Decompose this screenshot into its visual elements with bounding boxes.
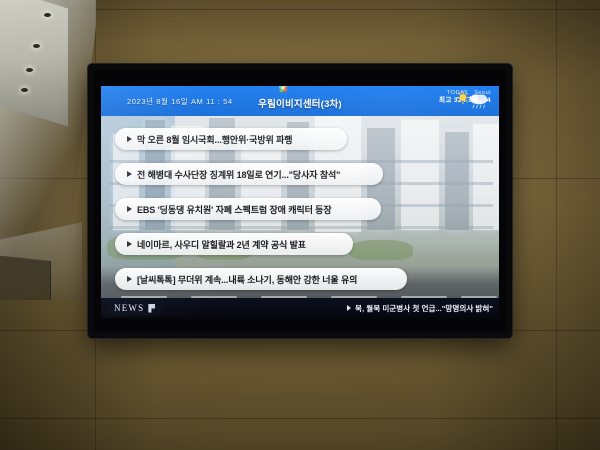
weather-icons-group [455, 91, 489, 111]
lobby-scene: 2023년 8월 16일 AM 11 : 54 우림이비지센터(3차) [0, 0, 600, 450]
screen-main-stage: 막 오른 8월 임시국회...행안위·국방위 파행 전 해병대 수사단장 징계위… [101, 116, 499, 318]
ceiling-downlight-icon [44, 13, 51, 17]
headline-text: 전 해병대 수사단장 징계위 18일로 연기..."당사자 참석" [137, 168, 340, 181]
play-triangle-icon [127, 241, 132, 247]
play-triangle-icon [127, 136, 132, 142]
news-badge: NEWS [107, 301, 162, 315]
news-badge-label: NEWS [114, 303, 144, 313]
list-item[interactable]: [날씨톡톡] 무더위 계속...내륙 소나기, 동해안 강한 너울 유의 [115, 268, 407, 290]
screen-header: 2023년 8월 16일 AM 11 : 54 우림이비지센터(3차) [101, 86, 499, 116]
play-triangle-icon [127, 276, 132, 282]
news-ticker[interactable]: NEWS 북, 월북 미군병사 첫 언급..."망명의사 밝혀" [101, 298, 499, 318]
background-corridor [0, 0, 96, 300]
list-item[interactable]: 네이마르, 사우디 알힐랄과 2년 계약 공식 발표 [115, 233, 353, 255]
ceiling-downlight-icon [21, 88, 28, 92]
sun-icon [457, 92, 469, 104]
headline-text: 막 오른 8월 임시국회...행안위·국방위 파행 [137, 133, 293, 146]
wall-seam [0, 418, 600, 419]
headline-text: EBS '딩동댕 유치원' 자폐 스펙트럼 장애 캐릭터 등장 [137, 203, 332, 216]
corridor-ceiling [0, 0, 68, 127]
wall-recess [0, 255, 51, 300]
news-flag-icon [148, 304, 155, 313]
list-item[interactable]: 막 오른 8월 임시국회...행안위·국방위 파행 [115, 128, 347, 150]
headline-text: [날씨톡톡] 무더위 계속...내륙 소나기, 동해안 강한 너울 유의 [137, 273, 357, 286]
ticker-content: 북, 월북 미군병사 첫 언급..."망명의사 밝혀" [347, 303, 493, 314]
list-item[interactable]: EBS '딩동댕 유치원' 자폐 스펙트럼 장애 캐릭터 등장 [115, 198, 381, 220]
display-screen[interactable]: 2023년 8월 16일 AM 11 : 54 우림이비지센터(3차) [101, 86, 499, 318]
play-triangle-icon [127, 206, 132, 212]
list-item[interactable]: 전 해병대 수사단장 징계위 18일로 연기..."당사자 참석" [115, 163, 383, 185]
wall-seam-vertical [556, 0, 557, 450]
ticker-headline: 북, 월북 미군병사 첫 언급..."망명의사 밝혀" [355, 303, 493, 314]
play-triangle-icon [347, 305, 351, 311]
headline-list: 막 오른 8월 임시국회...행안위·국방위 파행 전 해병대 수사단장 징계위… [101, 116, 499, 318]
ceiling-downlight-icon [26, 68, 33, 72]
cloud-rain-icon [471, 95, 488, 109]
play-triangle-icon [127, 171, 132, 177]
wall-mounted-display[interactable]: 2023년 8월 16일 AM 11 : 54 우림이비지센터(3차) [88, 64, 512, 338]
header-weather: TODAY Seoul 최고 32 / 최저 24 [439, 90, 491, 105]
page-title: 우림이비지센터(3차) [258, 99, 342, 110]
flower-logo-icon [277, 86, 289, 94]
headline-text: 네이마르, 사우디 알힐랄과 2년 계약 공식 발표 [137, 238, 306, 251]
ceiling-downlight-icon [33, 44, 40, 48]
